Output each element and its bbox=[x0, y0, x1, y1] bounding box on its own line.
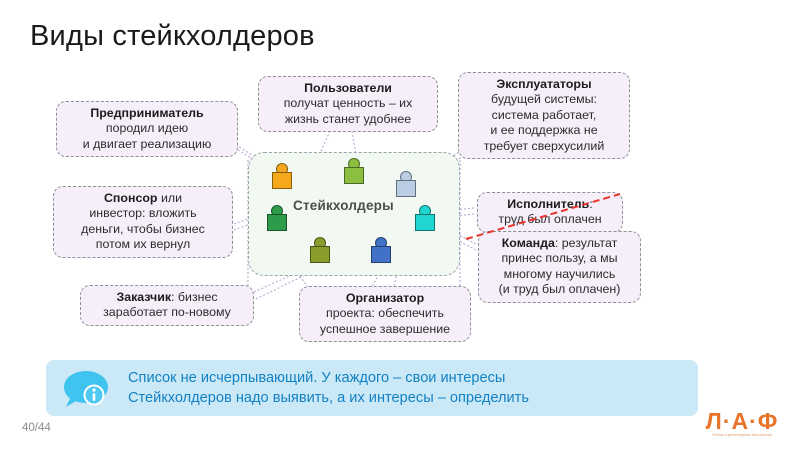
slide-root: Виды стейкхолдеров bbox=[0, 0, 800, 450]
callout-sponsor-title-suffix: или bbox=[158, 191, 183, 205]
callout-ispolnitel: Исполнитель: труд был оплачен bbox=[477, 192, 623, 233]
stakeholders-label: Стейкхолдеры bbox=[293, 198, 394, 213]
callout-sponsor-body: инвестор: вложить деньги, чтобы бизнес п… bbox=[81, 206, 205, 251]
info-bar-text: Список не исчерпывающий. У каждого – сво… bbox=[128, 369, 529, 408]
person-cyan-icon bbox=[415, 205, 435, 231]
callout-ekspluatatory-title: Эксплуататоры bbox=[496, 77, 591, 91]
callout-komanda-title-suffix: : результат bbox=[555, 236, 617, 250]
callout-komanda-body: принес пользу, а мы многому научились (и… bbox=[499, 251, 621, 296]
callout-ispolnitel-title-suffix: : bbox=[589, 197, 592, 211]
callout-zakazchik: Заказчик: бизнес заработает по-новому bbox=[80, 285, 254, 326]
person-darkgreen-icon bbox=[267, 205, 287, 231]
person-lightblue-icon bbox=[396, 171, 416, 197]
callout-ispolnitel-body: труд был оплачен bbox=[498, 212, 601, 226]
callout-zakazchik-title: Заказчик bbox=[116, 290, 171, 304]
callout-polzovateli-body: получат ценность – их жизнь станет удобн… bbox=[284, 96, 413, 125]
info-bar: Список не исчерпывающий. У каждого – сво… bbox=[46, 360, 698, 416]
callout-zakazchik-title-suffix: : бизнес bbox=[171, 290, 218, 304]
person-orange-icon bbox=[272, 163, 292, 189]
speech-bubble-info-icon bbox=[60, 368, 112, 410]
logo-mark: Л·А·Ф bbox=[694, 409, 790, 433]
person-green-icon bbox=[344, 158, 364, 184]
page-number: 40/44 bbox=[22, 422, 51, 434]
person-blue-icon bbox=[371, 237, 391, 263]
page-title: Виды стейкхолдеров bbox=[30, 20, 315, 53]
callout-komanda: Команда: результат принес пользу, а мы м… bbox=[478, 231, 641, 303]
callout-predprinimatel: Предприниматель породил идею и двигает р… bbox=[56, 101, 238, 157]
person-olive-icon bbox=[310, 237, 330, 263]
callout-organizator-body: проекта: обеспечить успешное завершение bbox=[320, 306, 450, 335]
callout-sponsor: Спонсор или инвестор: вложить деньги, чт… bbox=[53, 186, 233, 258]
logo: Л·А·Ф Летняя Архитектурная Мастерская bbox=[694, 409, 790, 438]
callout-predprinimatel-body: породил идею и двигает реализацию bbox=[83, 121, 212, 150]
callout-predprinimatel-title: Предприниматель bbox=[90, 106, 203, 120]
callout-komanda-title: Команда bbox=[502, 236, 555, 250]
callout-ispolnitel-title: Исполнитель bbox=[507, 197, 589, 211]
callout-ekspluatatory: Эксплуататоры будущей системы: система р… bbox=[458, 72, 630, 159]
callout-organizator-title: Организатор bbox=[346, 291, 424, 305]
callout-sponsor-title: Спонсор bbox=[104, 191, 158, 205]
callout-polzovateli: Пользователи получат ценность – их жизнь… bbox=[258, 76, 438, 132]
callout-polzovateli-title: Пользователи bbox=[304, 81, 392, 95]
callout-zakazchik-body: заработает по-новому bbox=[103, 305, 231, 319]
callout-ekspluatatory-body: будущей системы: система работает, и ее … bbox=[484, 92, 605, 152]
callout-organizator: Организатор проекта: обеспечить успешное… bbox=[299, 286, 471, 342]
